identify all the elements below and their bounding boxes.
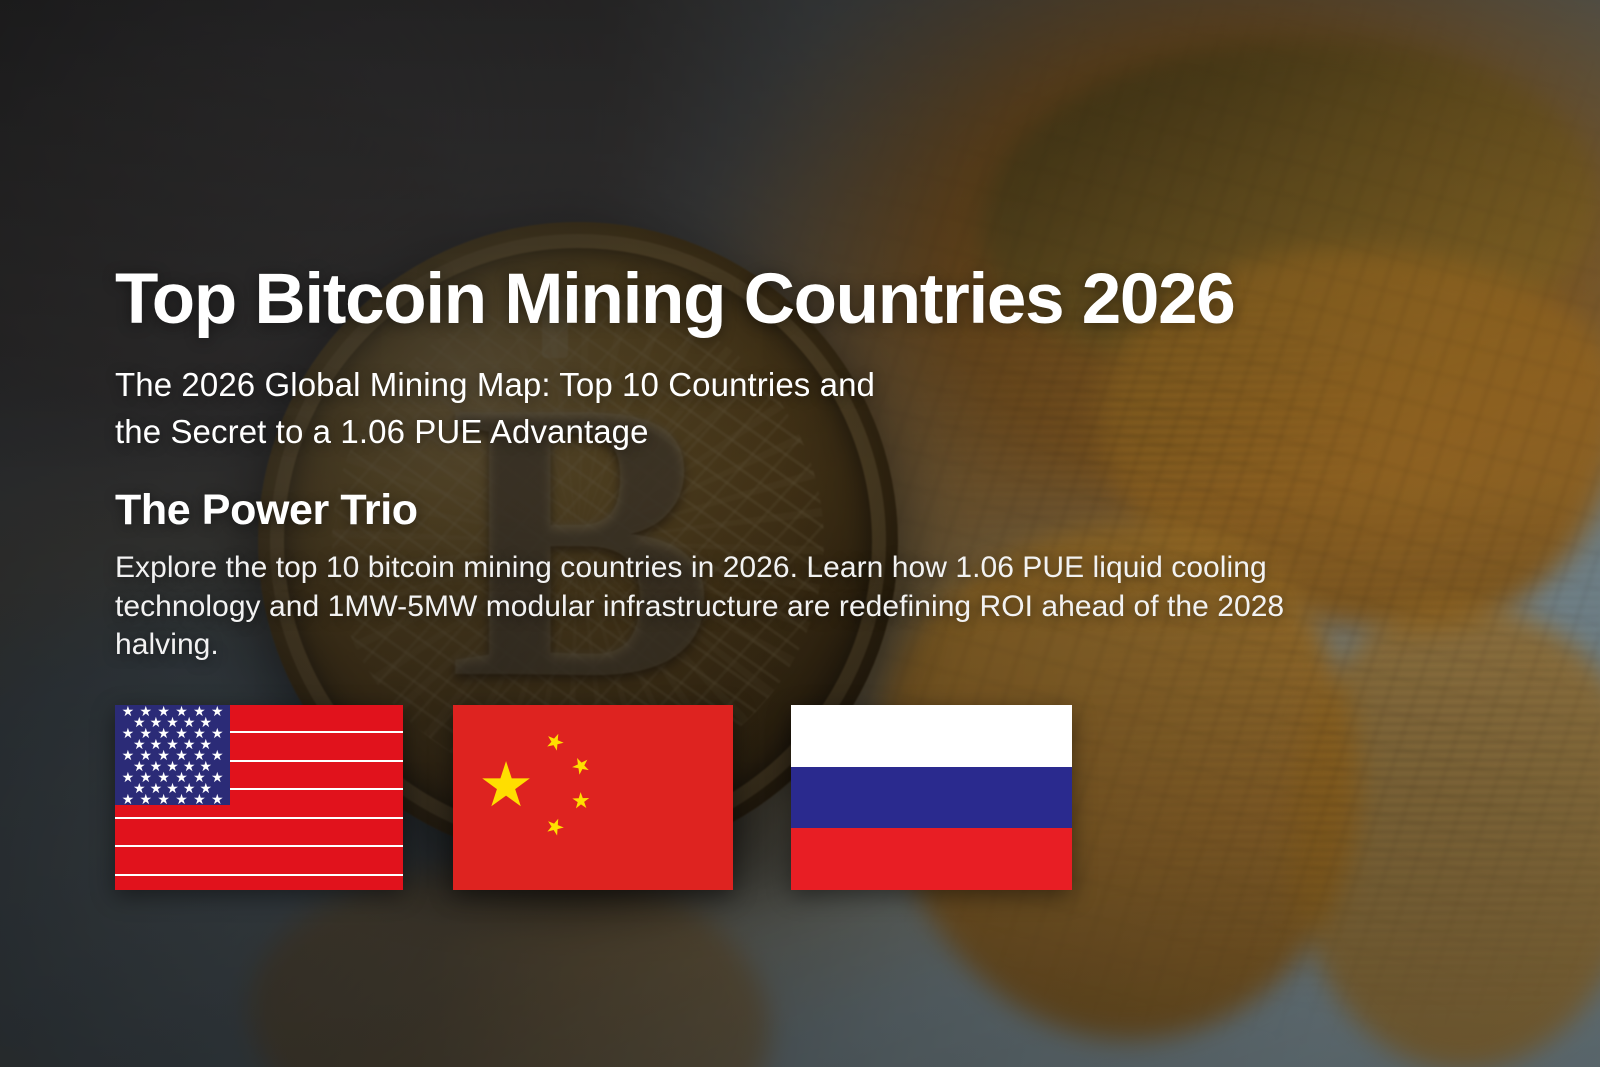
us-star-icon: ★ [122,792,135,806]
us-star-icon: ★ [175,792,188,806]
us-stripe [115,876,403,890]
russia-flag [791,705,1072,890]
china-small-star-icon: ★ [567,788,594,814]
china-flag: ★ ★ ★ ★ ★ [453,705,733,890]
united-states-flag: ★★★★★★★★★★★★★★★★★★★★★★★★★★★★★★★★★★★★★★★★… [115,705,403,890]
russia-white-band [791,705,1072,767]
us-canton: ★★★★★★★★★★★★★★★★★★★★★★★★★★★★★★★★★★★★★★★★… [115,705,230,805]
russia-blue-band [791,767,1072,829]
hero-banner: B Top Bitcoin Mining Countries 2026 The … [0,0,1600,1067]
page-subtitle: The 2026 Global Mining Map: Top 10 Count… [115,361,1115,455]
us-star-icon: ★ [193,792,206,806]
us-stripe [115,847,403,873]
china-small-star-icon: ★ [542,728,569,756]
us-star-icon: ★ [211,792,224,806]
china-big-star-icon: ★ [478,755,534,817]
page-title: Top Bitcoin Mining Countries 2026 [115,260,1375,340]
china-small-star-icon: ★ [566,751,596,780]
us-stripe [115,819,403,845]
body-copy: Explore the top 10 bitcoin mining countr… [115,549,1305,665]
china-red-field: ★ ★ ★ ★ ★ [453,705,733,890]
hero-content: Top Bitcoin Mining Countries 2026 The 20… [115,0,1375,1067]
russia-red-band [791,828,1072,890]
us-star-icon: ★ [140,792,153,806]
us-star-row: ★★★★★★ [115,794,230,805]
section-heading: The Power Trio [115,484,418,536]
us-star-icon: ★ [157,792,170,806]
china-small-star-icon: ★ [542,813,569,841]
